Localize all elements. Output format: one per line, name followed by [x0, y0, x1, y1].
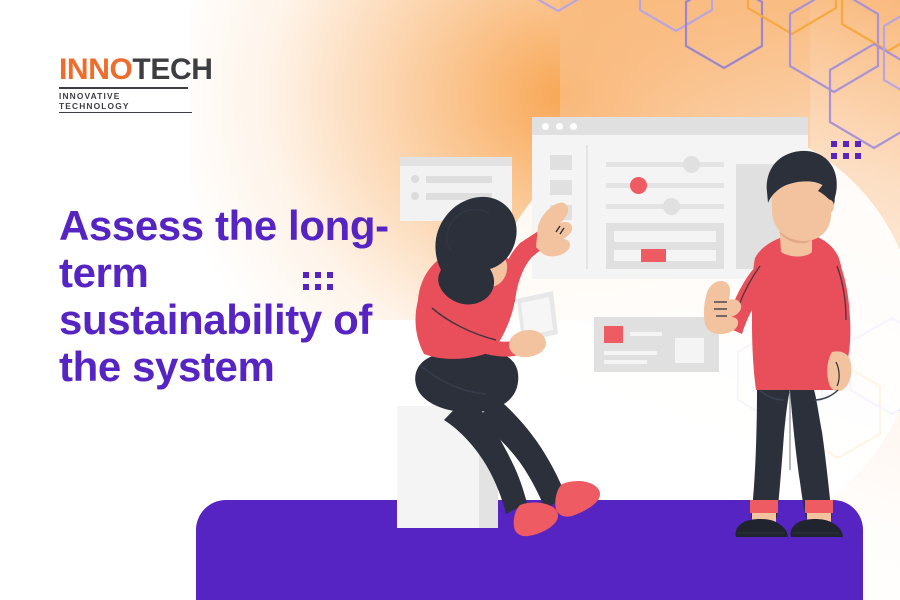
logo-underline-rule — [59, 112, 192, 113]
logo-wordmark: INNOTECH — [59, 55, 212, 85]
input-field-mock[interactable] — [614, 231, 716, 242]
cube-side-face — [479, 410, 498, 528]
list-item — [411, 175, 512, 183]
slider-track[interactable] — [606, 183, 724, 188]
card-header-bar — [400, 157, 512, 166]
placeholder-text-bar — [630, 332, 662, 336]
cube-front-face — [397, 406, 479, 528]
vertical-divider — [586, 145, 588, 269]
media-card-mock — [594, 317, 719, 372]
sidebar-item-square[interactable] — [550, 205, 572, 220]
bullet-icon — [411, 175, 419, 183]
page-title: Assess the long-term sustainability of t… — [59, 202, 389, 390]
bullet-icon — [411, 192, 419, 200]
accent-tag — [641, 249, 666, 262]
slider-knob[interactable] — [683, 156, 700, 173]
sidebar-item-square[interactable] — [550, 155, 572, 170]
list-card-mock — [400, 157, 512, 221]
placeholder-text-bar — [604, 351, 657, 355]
purple-platform — [196, 500, 863, 600]
form-panel-mock — [606, 223, 724, 269]
window-dot-icon[interactable] — [556, 123, 563, 130]
browser-content — [532, 135, 808, 279]
slider-knob[interactable] — [663, 198, 680, 215]
white-cube-seat — [397, 406, 498, 528]
accent-square-icon — [604, 326, 623, 343]
dot-grid-icon — [831, 141, 861, 159]
slider-track[interactable] — [606, 162, 724, 167]
brand-logo[interactable]: INNOTECH INNOVATIVE TECHNOLOGY — [59, 55, 212, 113]
logo-divider-rule — [59, 87, 188, 89]
logo-tagline: INNOVATIVE TECHNOLOGY — [59, 91, 192, 111]
slide-canvas: INNOTECH INNOVATIVE TECHNOLOGY Assess th… — [0, 0, 900, 600]
thumbnail-placeholder — [675, 338, 704, 363]
hexagon-pattern-lower-icon — [700, 290, 900, 520]
browser-titlebar — [532, 117, 808, 135]
placeholder-text-bar — [604, 360, 647, 364]
placeholder-text-bar — [426, 193, 492, 200]
placeholder-text-bar — [426, 176, 492, 183]
sidebar-item-square[interactable] — [550, 180, 572, 195]
logo-tech-text: TECH — [132, 53, 212, 86]
window-dot-icon[interactable] — [542, 123, 549, 130]
dot-grid-icon — [303, 272, 333, 290]
slider-knob-active[interactable] — [630, 177, 647, 194]
content-panel-mock — [736, 164, 790, 269]
window-dot-icon[interactable] — [570, 123, 577, 130]
list-item — [411, 192, 512, 200]
browser-window-mock — [532, 117, 808, 279]
logo-inno-text: INNO — [59, 53, 132, 86]
